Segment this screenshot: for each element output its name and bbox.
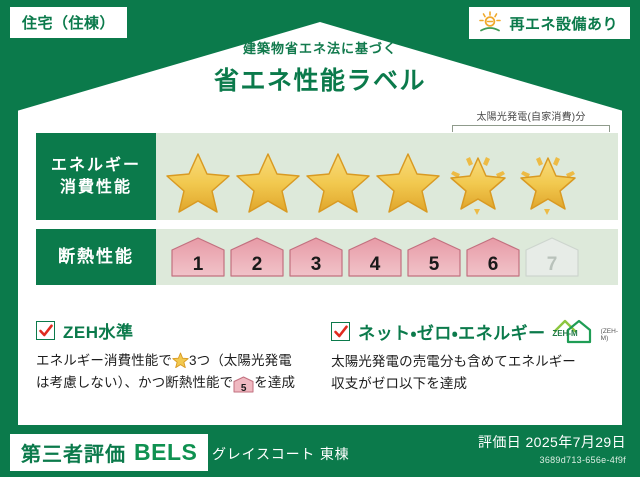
insulation-badge-inline: 5 (233, 376, 254, 393)
claim-nze-line2: 収支がゼロ以下を達成 (331, 376, 467, 391)
ratings-section: エネルギー 消費性能 太陽光発電(自家消費)分 (36, 133, 618, 294)
claim-zeh-standard: ZEH水準 エネルギー消費性能で3つ（太陽光発電は考慮しない）、かつ断熱性能で5… (36, 318, 317, 395)
zeh-m-logo-caption: (ZEH-M) (601, 328, 618, 344)
evaluation-date-value: 2025年7月29日 (525, 434, 626, 450)
evaluation-id: 3689d713-656e-4f9f (478, 455, 626, 465)
evaluation-info: 評価日 2025年7月29日 3689d713-656e-4f9f (478, 432, 626, 465)
claim-net-zero-energy: ネット・ゼロ・エネルギー ZEH-M (ZEH-M) 太陽光発電の売電分も含めて… (317, 318, 618, 395)
claim-nze-header: ネット・ゼロ・エネルギー ZEH-M (ZEH-M) (331, 318, 618, 344)
zeh-m-logo-icon: ZEH-M (552, 318, 592, 344)
insulation-level-badges: 1 2 3 4 5 (170, 236, 580, 278)
insulation-badges-track: 1 2 3 4 5 (156, 229, 618, 285)
energy-performance-label: 住宅（住棟） 再エネ設備あり 建築物省エネ法に基づく 省エネ性能ラベル (0, 0, 640, 477)
label-footer: 第三者評価 BELS グレイスコート 東棟 評価日 2025年7月29日 368… (0, 425, 640, 477)
insulation-level-badge: 1 (170, 236, 226, 278)
insulation-level-badge: 6 (465, 236, 521, 278)
claim-nze-body: 太陽光発電の売電分も含めてエネルギー収支がゼロ以下を達成 (331, 351, 618, 395)
energy-performance-row: エネルギー 消費性能 太陽光発電(自家消費)分 (36, 133, 618, 220)
claim-nze-line1: 太陽光発電の売電分も含めてエネルギー (331, 354, 576, 369)
housing-type-badge: 住宅（住棟） (10, 7, 127, 38)
energy-performance-label-box: エネルギー 消費性能 (36, 133, 156, 220)
bels-en-label: BELS (134, 439, 197, 466)
renewable-equipment-badge: 再エネ設備あり (469, 7, 630, 39)
label-kicker: 建築物省エネ法に基づく (0, 38, 640, 57)
insulation-level-badge: 5 (406, 236, 462, 278)
solar-bracket (452, 125, 610, 132)
evaluation-date: 評価日 2025年7月29日 (478, 432, 626, 452)
star-icon (234, 149, 302, 215)
insulation-level-badge-inactive: 7 (524, 236, 580, 278)
star-rating (164, 139, 582, 215)
label-title-block: 建築物省エネ法に基づく 省エネ性能ラベル (0, 38, 640, 97)
insulation-level-value: 2 (252, 255, 263, 278)
star-icon (164, 149, 232, 215)
bels-badge: 第三者評価 BELS (10, 434, 208, 471)
energy-label-line1: エネルギー (51, 155, 141, 177)
bels-jp-label: 第三者評価 (21, 438, 126, 467)
claim-zeh-text-4: を達成 (254, 375, 295, 390)
solar-annotation-label: 太陽光発電(自家消費)分 (452, 108, 610, 123)
claim-zeh-title: ZEH水準 (63, 318, 134, 343)
insulation-performance-row: 断熱性能 1 2 3 (36, 229, 618, 285)
insulation-level-badge: 4 (347, 236, 403, 278)
building-name: グレイスコート 東棟 (212, 444, 349, 464)
checkbox-checked-icon (36, 321, 55, 340)
sun-solar-icon (477, 11, 503, 35)
claim-zeh-header: ZEH水準 (36, 318, 303, 343)
solar-annotation: 太陽光発電(自家消費)分 (452, 108, 610, 132)
page-title: 省エネ性能ラベル (0, 61, 640, 97)
insulation-level-value: 4 (370, 255, 381, 278)
insulation-level-badge: 3 (288, 236, 344, 278)
insulation-performance-label-box: 断熱性能 (36, 229, 156, 285)
claim-nze-title: ネット・ゼロ・エネルギー (358, 319, 546, 344)
star-icon-inline (172, 352, 189, 368)
star-icon (374, 149, 442, 215)
insulation-level-value: 6 (488, 255, 499, 278)
star-icon-solar (514, 149, 582, 215)
insulation-level-value: 1 (193, 255, 204, 278)
energy-label-line2: 消費性能 (60, 177, 132, 199)
insulation-level-value: 3 (311, 255, 322, 278)
insulation-badge-inline-value: 5 (241, 383, 247, 394)
insulation-level-badge: 2 (229, 236, 285, 278)
insulation-label: 断熱性能 (58, 246, 134, 269)
claim-zeh-text-2: 3つ（太陽光発電 (189, 353, 292, 368)
evaluation-date-label: 評価日 (478, 434, 521, 450)
checkbox-checked-icon (331, 322, 350, 341)
claims-section: ZEH水準 エネルギー消費性能で3つ（太陽光発電は考慮しない）、かつ断熱性能で5… (36, 318, 618, 395)
star-icon (304, 149, 372, 215)
claim-zeh-text-1: エネルギー消費性能で (36, 353, 172, 368)
energy-stars-track: 太陽光発電(自家消費)分 (156, 133, 618, 220)
renewable-label: 再エネ設備あり (509, 13, 618, 34)
insulation-level-value: 5 (429, 255, 440, 278)
svg-text:ZEH-M: ZEH-M (552, 329, 578, 338)
claim-zeh-body: エネルギー消費性能で3つ（太陽光発電は考慮しない）、かつ断熱性能で5を達成 (36, 350, 303, 394)
claim-zeh-text-3: は考慮しない）、かつ断熱性能で (36, 375, 233, 390)
star-icon-solar (444, 149, 512, 215)
insulation-level-value: 7 (547, 255, 558, 278)
housing-type-label: 住宅（住棟） (22, 12, 115, 33)
